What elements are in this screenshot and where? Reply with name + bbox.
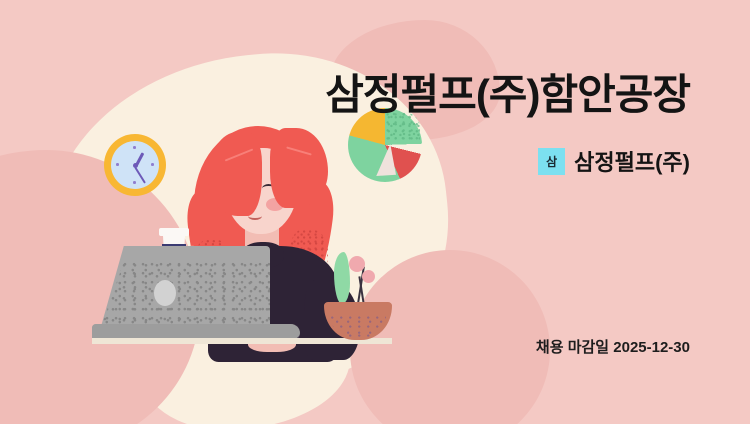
hair-front-right — [270, 128, 328, 208]
job-posting-banner: 삼정펄프(주)함안공장 삼 삼정펄프(주) 채용 마감일 2025-12-30 — [0, 0, 750, 424]
page-title: 삼정펄프(주)함안공장 — [325, 72, 690, 118]
cup-lid — [159, 228, 189, 236]
hair-front-left — [208, 132, 262, 216]
company-name: 삼정펄프(주) — [574, 145, 690, 177]
application-deadline: 채용 마감일 2025-12-30 — [536, 336, 690, 357]
laptop-logo — [154, 280, 176, 306]
plant-leaf — [334, 252, 350, 304]
flower-bloom — [349, 256, 365, 272]
company-logo-badge: 삼 — [538, 148, 565, 175]
laptop-illustration — [92, 246, 302, 346]
flower-bloom — [362, 270, 375, 283]
laptop-texture — [100, 262, 270, 330]
potted-plant-illustration — [318, 248, 398, 340]
company-row: 삼 삼정펄프(주) — [538, 145, 690, 177]
